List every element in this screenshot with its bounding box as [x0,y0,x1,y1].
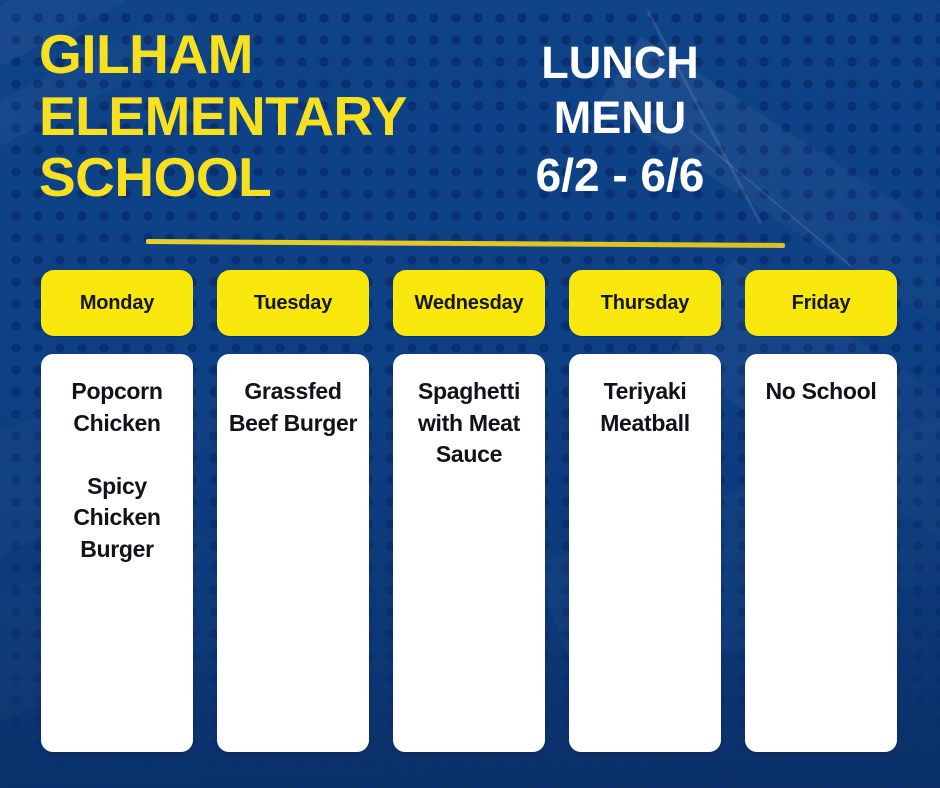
day-column-tuesday: Tuesday Grassfed Beef Burger [217,270,369,752]
poster-header: GILHAM ELEMENTARY SCHOOL LUNCH MENU 6/2 … [0,0,940,250]
menu-item: Teriyaki Meatball [579,376,711,439]
day-column-thursday: Thursday Teriyaki Meatball [569,270,721,752]
day-column-wednesday: Wednesday Spaghetti with Meat Sauce [393,270,545,752]
menu-title: LUNCH MENU [470,36,770,146]
day-header-wednesday: Wednesday [393,270,545,336]
menu-card-friday: No School [745,354,897,752]
menu-item: No School [755,376,887,408]
menu-date-range: 6/2 - 6/6 [470,150,770,201]
school-name-line-1: GILHAM [39,24,469,86]
school-name-line-3: SCHOOL [39,147,469,209]
menu-title-line-1: LUNCH [470,36,770,91]
menu-card-wednesday: Spaghetti with Meat Sauce [393,354,545,752]
day-header-monday: Monday [41,270,193,336]
day-column-friday: Friday No School [745,270,897,752]
menu-title-line-2: MENU [470,91,770,146]
school-name: GILHAM ELEMENTARY SCHOOL [39,24,469,209]
header-divider [146,239,785,248]
week-grid: Monday Popcorn Chicken Spicy Chicken Bur… [41,270,899,752]
menu-item: Spicy Chicken Burger [51,471,183,566]
day-header-thursday: Thursday [569,270,721,336]
menu-title-block: LUNCH MENU 6/2 - 6/6 [470,36,770,200]
menu-card-tuesday: Grassfed Beef Burger [217,354,369,752]
day-header-tuesday: Tuesday [217,270,369,336]
day-header-friday: Friday [745,270,897,336]
menu-card-thursday: Teriyaki Meatball [569,354,721,752]
menu-item: Grassfed Beef Burger [227,376,359,439]
lunch-menu-poster: GILHAM ELEMENTARY SCHOOL LUNCH MENU 6/2 … [0,0,940,788]
school-name-line-2: ELEMENTARY [39,86,469,148]
menu-item: Popcorn Chicken [51,376,183,439]
day-column-monday: Monday Popcorn Chicken Spicy Chicken Bur… [41,270,193,752]
menu-item: Spaghetti with Meat Sauce [403,376,535,471]
menu-card-monday: Popcorn Chicken Spicy Chicken Burger [41,354,193,752]
